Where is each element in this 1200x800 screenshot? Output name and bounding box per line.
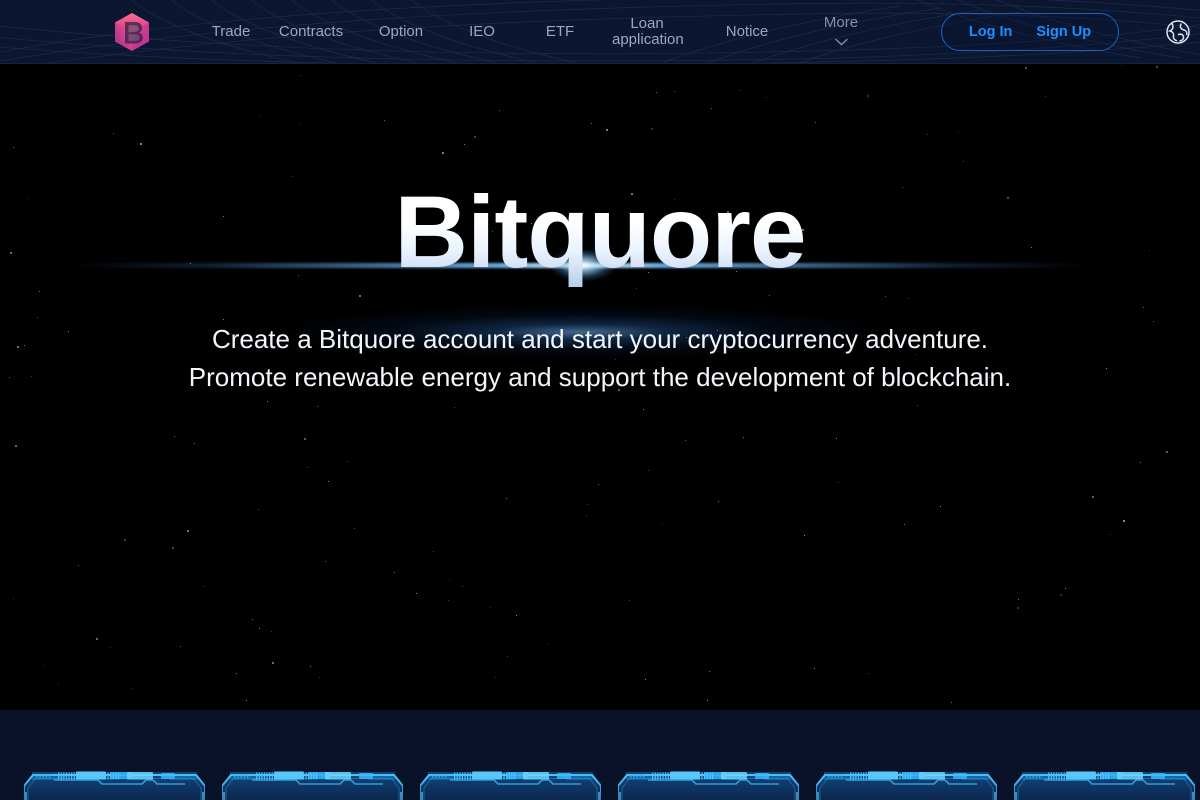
auth-buttons-group[interactable]: Log In Sign Up (941, 13, 1119, 51)
star-dot (1065, 588, 1066, 589)
star-dot (838, 482, 839, 483)
star-dot (259, 116, 260, 117)
star-dot (433, 551, 434, 552)
star-dot (743, 437, 744, 438)
star-dot (499, 110, 500, 111)
star-dot (246, 700, 247, 701)
star-dot (836, 438, 837, 439)
star-dot (416, 593, 417, 594)
star-dot (1110, 534, 1111, 535)
star-dot (442, 152, 444, 154)
star-dot (867, 95, 869, 97)
star-dot (815, 122, 816, 123)
star-dot (908, 298, 909, 299)
star-dot (685, 440, 686, 441)
star-dot (58, 683, 59, 684)
nav-item-label: Option (379, 24, 423, 40)
star-dot (43, 665, 44, 666)
hud-cards-section (0, 710, 1200, 800)
star-dot (1140, 462, 1141, 463)
star-dot (300, 75, 301, 76)
star-dot (1025, 67, 1027, 69)
star-dot (674, 91, 675, 92)
star-dot (394, 572, 395, 573)
star-dot (258, 509, 259, 510)
star-dot (304, 438, 306, 440)
nav-item-label: Loan application (612, 16, 682, 48)
star-dot (940, 506, 941, 507)
hud-card[interactable] (1014, 770, 1195, 800)
star-dot (140, 143, 142, 145)
star-dot (1143, 307, 1144, 308)
nav-item-label: More (824, 15, 858, 31)
star-dot (310, 666, 311, 667)
star-dot (868, 673, 869, 674)
star-dot (587, 504, 588, 505)
hud-card-row (24, 770, 1195, 800)
star-dot (319, 677, 320, 678)
hero-section: Bitquore Create a Bitquore account and s… (0, 64, 1200, 710)
star-dot (325, 561, 326, 562)
page-root: Trade Contracts Option IEO ETF Loan appl… (0, 0, 1200, 800)
star-dot (711, 108, 712, 109)
star-dot (259, 628, 260, 629)
star-dot (951, 702, 952, 703)
star-dot (927, 134, 928, 135)
star-dot (769, 295, 770, 296)
nav-item-label: Notice (726, 24, 769, 40)
star-dot (1156, 66, 1158, 68)
star-dot (252, 619, 253, 620)
star-dot (1092, 496, 1094, 498)
star-dot (662, 523, 663, 524)
star-dot (656, 92, 657, 93)
nav-item-loan-application[interactable]: Loan application (598, 16, 696, 48)
hud-card[interactable] (222, 770, 403, 800)
star-dot (651, 128, 653, 130)
nav-item-contracts[interactable]: Contracts (262, 24, 360, 40)
star-dot (13, 598, 14, 599)
hud-card[interactable] (816, 770, 997, 800)
star-dot (464, 144, 465, 145)
nav-item-label: IEO (469, 24, 495, 40)
star-dot (78, 565, 79, 566)
star-dot (917, 405, 918, 406)
star-dot (307, 467, 308, 468)
star-dot (15, 445, 17, 447)
star-dot (96, 638, 98, 640)
star-dot (317, 406, 318, 407)
star-dot (449, 579, 450, 580)
star-dot (271, 631, 272, 632)
star-dot (814, 668, 815, 669)
nav-item-label: Contracts (279, 24, 343, 40)
star-dot (1017, 607, 1019, 609)
star-dot (359, 295, 361, 297)
star-dot (110, 647, 111, 648)
nav-item-ieo[interactable]: IEO (442, 24, 522, 40)
globe-icon[interactable] (1164, 18, 1192, 46)
nav-links: Trade Contracts Option IEO ETF Loan appl… (200, 0, 884, 64)
star-dot (643, 409, 644, 410)
star-dot (804, 535, 805, 536)
star-dot (740, 90, 741, 91)
hero-title: Bitquore (0, 177, 1200, 287)
star-dot (194, 443, 195, 444)
star-dot (506, 498, 507, 499)
star-dot (37, 317, 38, 318)
star-dot (586, 515, 587, 516)
hud-card[interactable] (24, 770, 205, 800)
star-dot (124, 539, 126, 541)
star-dot (462, 586, 463, 587)
star-dot (1121, 65, 1122, 66)
star-dot (598, 484, 599, 485)
top-navigation-bar: Trade Contracts Option IEO ETF Loan appl… (0, 0, 1200, 64)
star-dot (548, 644, 549, 645)
hud-card[interactable] (420, 770, 601, 800)
star-dot (113, 133, 114, 134)
star-dot (384, 120, 385, 121)
star-dot (132, 688, 133, 689)
nav-item-label: ETF (546, 24, 574, 40)
star-dot (885, 296, 886, 297)
star-dot (904, 524, 905, 525)
star-dot (629, 600, 630, 601)
star-dot (454, 407, 455, 408)
star-dot (448, 600, 449, 601)
star-dot (766, 97, 767, 98)
nav-item-etf[interactable]: ETF (522, 24, 598, 40)
star-dot (709, 671, 710, 672)
star-dot (958, 131, 959, 132)
star-dot (963, 161, 964, 162)
star-dot (328, 481, 329, 482)
star-dot (187, 530, 189, 532)
star-dot (1166, 451, 1168, 453)
log-in-button[interactable]: Log In (969, 24, 1013, 40)
star-dot (490, 607, 491, 608)
sign-up-button[interactable]: Sign Up (1036, 24, 1091, 40)
star-dot (591, 123, 592, 124)
star-dot (718, 501, 719, 502)
nav-item-more[interactable]: More (798, 15, 884, 50)
star-dot (707, 700, 708, 701)
star-dot (300, 124, 301, 125)
star-dot (606, 129, 608, 131)
star-dot (13, 147, 14, 148)
star-dot (39, 291, 40, 292)
star-dot (174, 436, 175, 437)
hud-card[interactable] (618, 770, 799, 800)
star-dot (267, 401, 268, 402)
star-dot (1060, 594, 1062, 596)
nav-item-notice[interactable]: Notice (696, 24, 798, 40)
chevron-down-icon (835, 34, 848, 50)
star-dot (507, 656, 508, 657)
star-dot (354, 528, 355, 529)
hero-subtitle: Create a Bitquore account and start your… (0, 320, 1200, 396)
star-dot (645, 679, 646, 680)
star-dot (495, 677, 496, 678)
star-dot (236, 673, 237, 674)
star-dot (347, 461, 348, 462)
bitquore-hexagon-logo-icon[interactable] (111, 11, 153, 53)
star-dot (272, 662, 274, 664)
star-dot (172, 547, 174, 549)
nav-item-option[interactable]: Option (360, 24, 442, 40)
nav-item-label: Trade (212, 24, 251, 40)
star-dot (1045, 96, 1046, 97)
star-dot (1018, 599, 1019, 600)
star-dot (474, 136, 476, 138)
star-dot (516, 615, 517, 616)
star-dot (1123, 520, 1125, 522)
nav-item-trade[interactable]: Trade (200, 24, 262, 40)
star-dot (648, 470, 649, 471)
star-dot (204, 586, 205, 587)
star-dot (180, 646, 181, 647)
